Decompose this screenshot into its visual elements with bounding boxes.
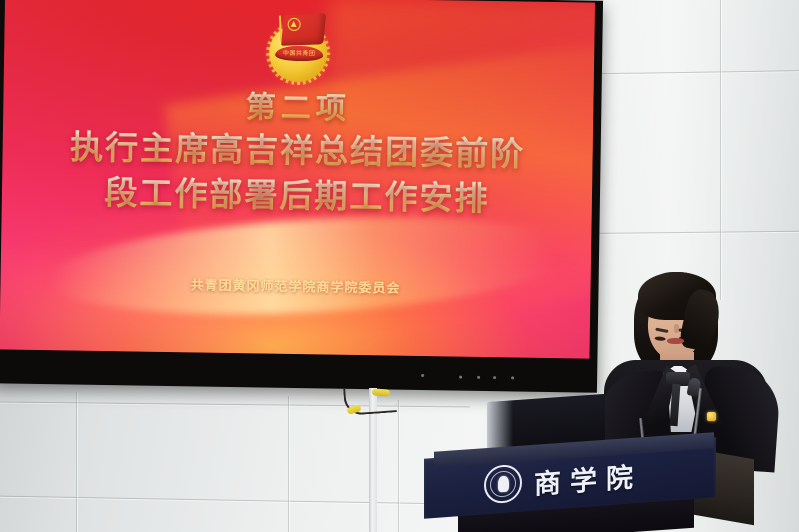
- eyebrow-left: [655, 328, 668, 333]
- podium-label-text: 商学院: [534, 454, 642, 501]
- led-presentation-screen[interactable]: 中国共青团 第二项 执行主席高吉祥总结团委前阶 段工作部署后期工作安排 共青团黄…: [0, 0, 603, 393]
- communist-youth-league-emblem: 中国共青团: [262, 9, 337, 86]
- seal-inner-emblem-icon: [498, 476, 509, 493]
- emblem-red-flag-icon: [281, 13, 326, 45]
- lapel-badge-pin: [707, 412, 716, 421]
- wall-seam-vertical: [76, 392, 77, 532]
- wall-seam-vertical: [720, 0, 721, 300]
- screen-display-area: 中国共青团 第二项 执行主席高吉祥总结团委前阶 段工作部署后期工作安排 共青团黄…: [0, 0, 595, 359]
- university-seal-logo: [484, 464, 522, 505]
- slide-title-line-1: 执行主席高吉祥总结团委前阶: [2, 123, 593, 178]
- yellow-cable-clip-icon: [372, 388, 390, 396]
- eye-left: [655, 336, 666, 341]
- photo-scene: 中国共青团 第二项 执行主席高吉祥总结团委前阶 段工作部署后期工作安排 共青团黄…: [0, 0, 799, 532]
- slide-title-line-2: 段工作部署后期工作安排: [2, 168, 593, 223]
- emblem-banner: 中国共青团: [275, 46, 323, 62]
- wall-seam-vertical: [288, 396, 289, 532]
- mouth: [667, 338, 684, 344]
- emblem-banner-text: 中国共青团: [275, 48, 323, 58]
- lectern-podium: 商学院: [424, 440, 724, 532]
- wall-seam-vertical: [398, 400, 399, 532]
- slide-text-block: 第二项 执行主席高吉祥总结团委前阶 段工作部署后期工作安排: [2, 85, 594, 223]
- nose: [674, 324, 679, 333]
